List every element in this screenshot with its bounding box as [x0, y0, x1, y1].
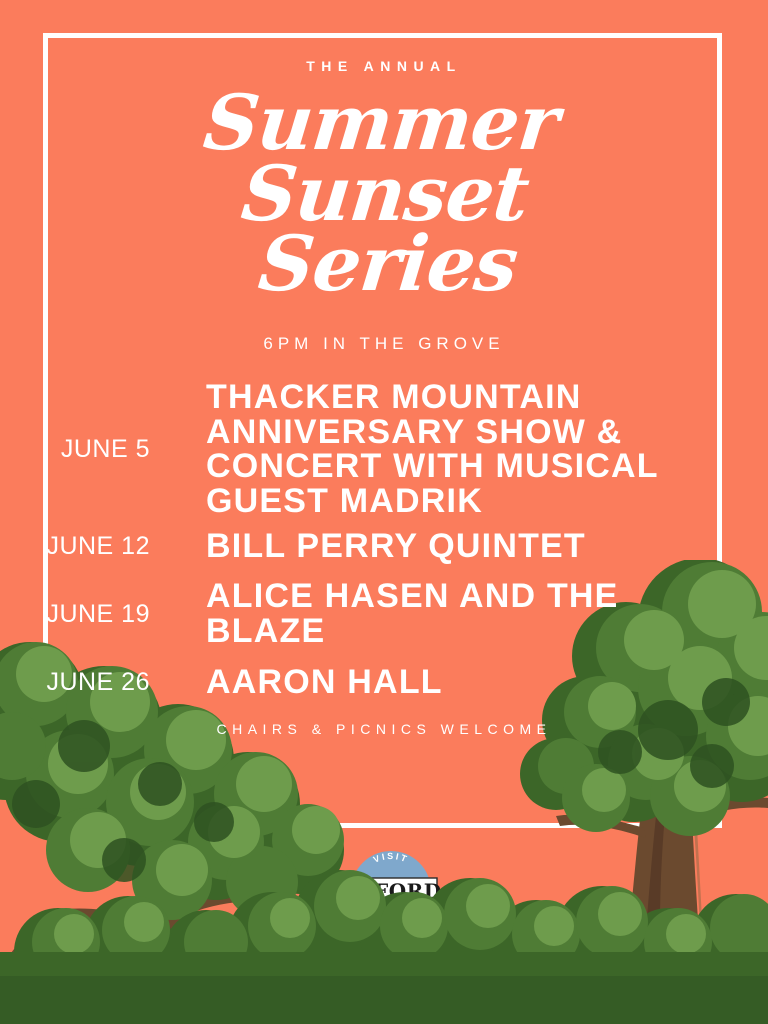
- title-line-3: Series: [4, 229, 768, 300]
- event-act: AARON HALL: [206, 665, 443, 700]
- event-date: JUNE 5: [0, 435, 150, 464]
- kicker-text: THE ANNUAL: [0, 58, 768, 74]
- schedule-row: JUNE 5 THACKER MOUNTAIN ANNIVERSARY SHOW…: [0, 380, 768, 519]
- poster-canvas: THE ANNUAL Summer Sunset Series 6PM IN T…: [0, 0, 768, 1024]
- footnote-text: CHAIRS & PICNICS WELCOME: [0, 721, 768, 737]
- poster-title: Summer Sunset Series: [0, 88, 768, 300]
- event-date: JUNE 19: [0, 600, 150, 629]
- event-act: THACKER MOUNTAIN ANNIVERSARY SHOW & CONC…: [206, 380, 716, 519]
- event-act: BILL PERRY QUINTET: [206, 529, 586, 564]
- event-act: ALICE HASEN AND THE BLAZE: [206, 579, 716, 648]
- schedule-row: JUNE 19 ALICE HASEN AND THE BLAZE: [0, 579, 768, 648]
- poster-content: THE ANNUAL Summer Sunset Series 6PM IN T…: [0, 0, 768, 737]
- schedule-row: JUNE 12 BILL PERRY QUINTET: [0, 529, 768, 564]
- schedule-row: JUNE 26 AARON HALL: [0, 665, 768, 700]
- time-and-place: 6PM IN THE GROVE: [0, 334, 768, 354]
- event-schedule: JUNE 5 THACKER MOUNTAIN ANNIVERSARY SHOW…: [0, 380, 768, 699]
- event-date: JUNE 26: [0, 668, 150, 697]
- event-date: JUNE 12: [0, 532, 150, 561]
